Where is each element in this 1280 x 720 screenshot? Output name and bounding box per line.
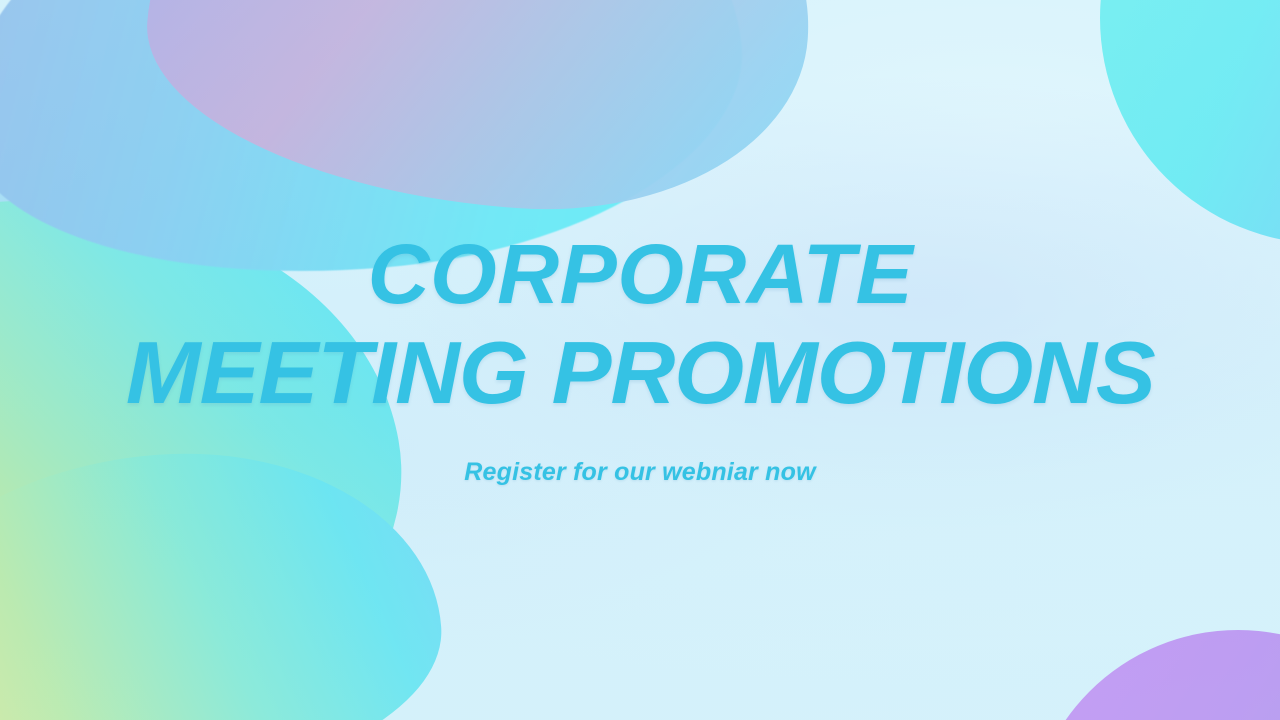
headline-line-1: CORPORATE	[367, 233, 913, 315]
content-block: CORPORATE MEETING PROMOTIONS Register fo…	[0, 0, 1280, 720]
promo-slide: CORPORATE MEETING PROMOTIONS Register fo…	[0, 0, 1280, 720]
headline-line-2: MEETING PROMOTIONS	[126, 330, 1155, 416]
subtitle-text: Register for our webniar now	[464, 458, 815, 487]
